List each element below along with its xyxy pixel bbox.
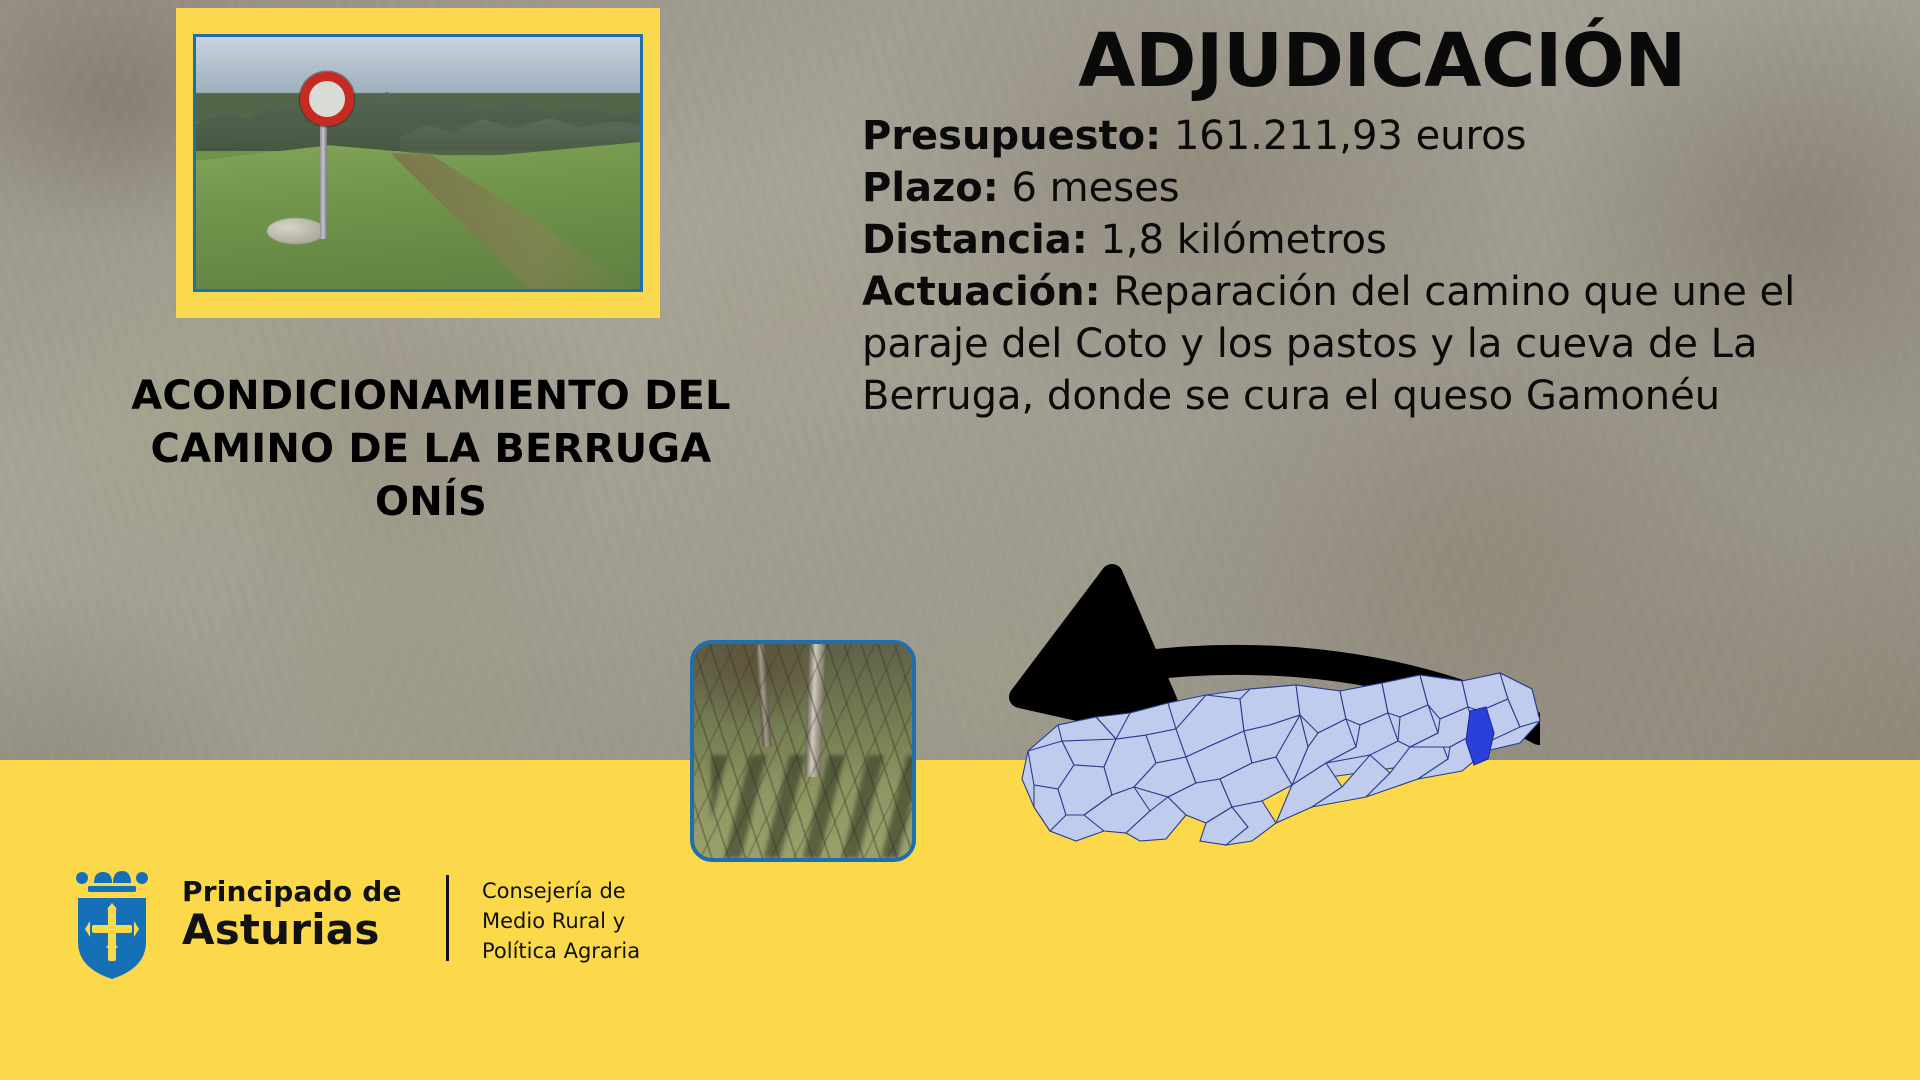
fact-plazo-value: 6 meses xyxy=(1012,165,1180,211)
landscape-photo xyxy=(193,34,643,292)
no-entry-sign-icon xyxy=(300,72,354,126)
project-title-line-2: CAMINO DE LA BERRUGA xyxy=(46,423,816,476)
fact-plazo-label: Plazo: xyxy=(862,165,999,211)
fact-actuacion: Actuación: Reparación del camino que une… xyxy=(862,266,1902,422)
project-title-line-3: ONÍS xyxy=(46,476,816,529)
fact-actuacion-label: Actuación: xyxy=(862,269,1101,315)
fact-presupuesto-value: 161.211,93 euros xyxy=(1174,113,1527,159)
detail-photo-shadows xyxy=(711,755,916,858)
project-title: ACONDICIONAMIENTO DEL CAMINO DE LA BERRU… xyxy=(46,370,816,528)
fact-plazo: Plazo: 6 meses xyxy=(862,162,1902,214)
department-line-3: Política Agraria xyxy=(482,937,640,967)
institutional-logo: Principado de Asturias Consejería de Med… xyxy=(70,855,690,985)
asturias-shield-icon xyxy=(70,869,154,981)
fact-distancia-label: Distancia: xyxy=(862,217,1088,263)
award-info-panel: ADJUDICACIÓN Presupuesto: 161.211,93 eur… xyxy=(862,22,1902,422)
department-name: Consejería de Medio Rural y Política Agr… xyxy=(482,877,640,966)
detail-photo xyxy=(690,640,916,862)
project-title-line-1: ACONDICIONAMIENTO DEL xyxy=(46,370,816,423)
fact-distancia-value: 1,8 kilómetros xyxy=(1100,217,1386,263)
landscape-photo-frame xyxy=(176,8,660,318)
logo-wordmark: Principado de Asturias xyxy=(182,877,402,952)
page-title: ADJUDICACIÓN xyxy=(862,22,1902,100)
department-line-2: Medio Rural y xyxy=(482,907,640,937)
asturias-map xyxy=(1000,655,1560,885)
logo-line-principado: Principado de xyxy=(182,877,402,908)
logo-line-asturias: Asturias xyxy=(182,908,402,952)
fact-presupuesto: Presupuesto: 161.211,93 euros xyxy=(862,110,1902,162)
fact-distancia: Distancia: 1,8 kilómetros xyxy=(862,214,1902,266)
poster-canvas: ACONDICIONAMIENTO DEL CAMINO DE LA BERRU… xyxy=(0,0,1920,1080)
logo-divider xyxy=(446,875,449,961)
fact-presupuesto-label: Presupuesto: xyxy=(862,113,1161,159)
department-line-1: Consejería de xyxy=(482,877,640,907)
